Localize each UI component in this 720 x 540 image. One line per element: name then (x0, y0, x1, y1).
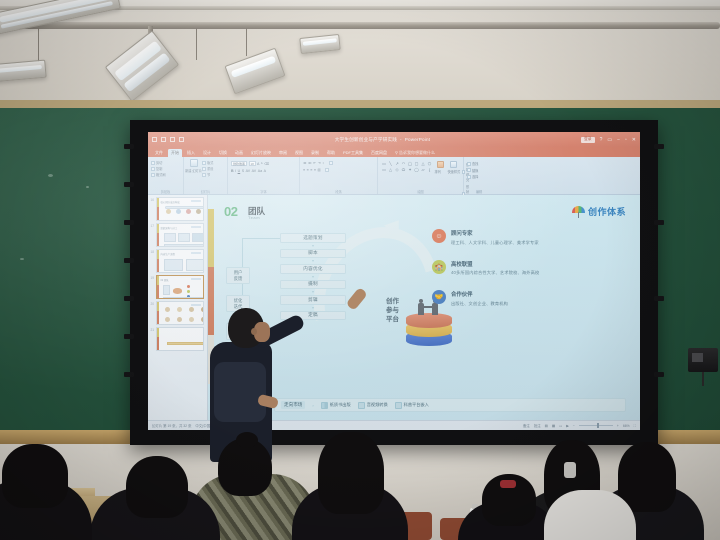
right-panel-list: ☺ 顾问专家 理工科、人文学科、儿童心理学、美术学专家 🏫 高校联盟 (432, 229, 628, 321)
help-icon[interactable]: ? (600, 137, 603, 143)
output-item-label: 纸质书出版 (330, 402, 351, 408)
output-channel-bar: 走向市场 › 纸质书出版 音视频转换 (274, 398, 626, 412)
minimize-icon[interactable]: − (617, 137, 620, 143)
copy-label: 复制 (156, 166, 162, 171)
output-item-video[interactable]: 音视频转换 (358, 402, 388, 409)
thumb-avatar (189, 317, 194, 322)
section-icon (202, 173, 206, 177)
thumb-block (186, 259, 205, 271)
font-color-icon[interactable]: A (264, 169, 266, 173)
new-slide-label: 新建 幻灯片 (185, 168, 202, 173)
screen-clip (654, 220, 664, 225)
find-icon (467, 162, 471, 166)
output-item-platform[interactable]: 科普平台嵌入 (395, 402, 429, 409)
section-number: 02 (224, 204, 237, 219)
slide-counter: 幻灯片 第 19 张，共 32 张 (152, 423, 191, 428)
title-bar: 大学生创新创业与产学研实践 - PowerPoint 登录 ? ▭ − ▫ ✕ (148, 132, 640, 147)
thumbnail-item[interactable]: 20 (148, 299, 207, 325)
thumb-avatar (165, 317, 170, 322)
clear-format-icon[interactable]: ⌫ (264, 162, 269, 166)
align-left-icon[interactable]: ≡ (303, 168, 305, 172)
strikethrough-icon[interactable]: S (242, 169, 244, 173)
format-painter-button[interactable]: 格式刷 (151, 172, 166, 177)
thumbnail-number: 16 (150, 197, 154, 221)
wall-control-panel[interactable] (688, 348, 718, 372)
thumb-avatar (166, 209, 171, 214)
thumbnail-number: 20 (150, 301, 154, 325)
umbrella-icon (572, 205, 585, 218)
video-icon (358, 402, 365, 409)
flow-node-2[interactable]: 脚本 (280, 249, 346, 259)
slideshow-icon[interactable]: ▶ (566, 424, 569, 428)
panel-cable (702, 372, 704, 386)
convert-smartart-button[interactable] (325, 168, 329, 172)
layout-icon (202, 161, 206, 165)
screen-clip (124, 144, 134, 149)
thumb-block (163, 297, 205, 299)
thumb-item-icon (187, 285, 190, 288)
platform-label: 创作参与平台 (386, 297, 399, 324)
lamp-wire (38, 28, 39, 64)
thumbnail-number: 18 (150, 249, 154, 273)
thumb-heading: 核心团队成员构成 (161, 200, 180, 204)
list-item-heading: 顾问专家 (451, 229, 539, 237)
thumb-avatar (165, 307, 170, 312)
reading-view-icon[interactable]: ▭ (559, 424, 562, 428)
thumb-avatar (177, 317, 182, 322)
cut-icon (151, 161, 155, 165)
screen-clip (654, 372, 664, 377)
screen-clip (124, 258, 134, 263)
section-label: 节 (207, 172, 210, 177)
student-hair (126, 456, 188, 518)
replace-button[interactable]: 替换 (467, 168, 491, 173)
clipboard-row: 剪切 复制 格式刷 (151, 159, 180, 177)
ribbon-group-slides: 新建 幻灯片 版式 重设 节 幻灯片 (184, 157, 228, 194)
output-bar-separator: › (312, 403, 313, 408)
classroom-scene: 大学生创新创业与产学研实践 - PowerPoint 登录 ? ▭ − ▫ ✕ (0, 0, 720, 540)
columns-icon[interactable]: ▥ (317, 168, 320, 172)
lamp-tube (303, 38, 337, 45)
thumb-avatar (196, 209, 201, 214)
tab-baidu-netdisk[interactable]: 百度网盘 (368, 149, 390, 158)
screen-clip (654, 296, 664, 301)
shape-rounded-icon[interactable]: ▢ (414, 161, 420, 166)
tab-review[interactable]: 审阅 (276, 149, 290, 158)
slides-row: 新建 幻灯片 版式 重设 节 (187, 159, 224, 177)
lamp-wire (196, 28, 197, 60)
ribbon-group-clipboard: 剪切 复制 格式刷 剪贴板 (148, 157, 184, 194)
group-label-font: 字体 (228, 189, 299, 194)
tab-insert[interactable]: 插入 (184, 149, 198, 158)
flow-node-4[interactable]: 摄制 (280, 280, 346, 290)
reset-button[interactable]: 重设 (202, 166, 213, 171)
list-item[interactable]: ☺ 顾问专家 理工科、人文学科、儿童心理学、美术学专家 (432, 229, 628, 246)
thumbnail-card[interactable]: 02 团队 (156, 275, 205, 299)
thumbnail-item[interactable]: 17 组织架构与分工 (148, 221, 207, 247)
tab-help[interactable]: 帮助 (324, 149, 338, 158)
shape-cyl-icon[interactable]: ⬭ (401, 167, 407, 172)
replace-icon (467, 168, 471, 172)
thumbnail-item[interactable]: 18 内容生产流程 (148, 247, 207, 273)
align-center-icon[interactable]: ≡ (307, 168, 309, 172)
char-spacing-icon[interactable]: AV (252, 169, 257, 173)
select-button[interactable]: 选择 (467, 174, 491, 179)
font-style-row: B I U S AV AV Aa A (231, 166, 296, 173)
bold-icon[interactable]: B (231, 169, 234, 173)
copy-button[interactable]: 复制 (151, 166, 166, 171)
tell-me-box[interactable]: ⚲ 告诉我你想要做什么 (392, 149, 438, 158)
increase-font-icon[interactable]: A (257, 162, 259, 166)
student-hair (2, 444, 68, 508)
output-item-print[interactable]: 纸质书出版 (321, 402, 351, 409)
tab-home[interactable]: 开始 (168, 149, 182, 158)
find-button[interactable]: 查找 (467, 161, 491, 166)
ribbon-group-font: 微软雅黑 18 A A ⌫ B I U S AV AV (228, 157, 300, 194)
thumb-avatar (186, 209, 191, 214)
flow-connector-top (242, 238, 280, 239)
handshake-icon: 🤝 (432, 290, 446, 304)
format-painter-label: 格式刷 (156, 172, 166, 177)
thumbnail-card[interactable]: 组织架构与分工 (156, 223, 205, 247)
student-hair (618, 442, 676, 512)
tab-design[interactable]: 设计 (200, 149, 214, 158)
group-label-drawing: 绘图 (378, 189, 463, 194)
tab-slideshow[interactable]: 幻灯片放映 (248, 149, 274, 158)
flow-arrow: ▾ (280, 259, 346, 263)
new-slide-button[interactable]: 新建 幻灯片 (187, 159, 200, 173)
product-name: PowerPoint (405, 137, 431, 142)
section-button[interactable]: 节 (202, 172, 213, 177)
comments-button[interactable]: 批注 (534, 423, 541, 428)
copy-icon (151, 167, 155, 171)
lamp-tube (0, 64, 42, 72)
section-subtitle: Team (248, 215, 260, 220)
shape-star-icon[interactable]: ✦ (407, 167, 413, 172)
close-icon[interactable]: ✕ (632, 137, 636, 143)
thumb-accent (157, 328, 159, 350)
thumb-platform (173, 288, 182, 294)
thumb-accent (157, 224, 159, 246)
thumb-badge (191, 226, 201, 228)
flow-arrow: ▾ (280, 275, 346, 279)
cut-label: 剪切 (156, 160, 162, 165)
sign-in-button[interactable]: 登录 (581, 137, 595, 143)
list-item-text: 高校联盟 40多所国内综合性大学、艺术院校、海外高校 (451, 260, 539, 277)
thumbnail-number: 21 (150, 327, 154, 351)
thumb-heading: 内容生产流程 (161, 252, 175, 256)
figure-body (418, 303, 424, 315)
presenter-ear (251, 328, 257, 335)
screen-clip (124, 220, 134, 225)
quick-styles-icon (450, 161, 457, 168)
platform-icon (395, 402, 402, 409)
group-label-clipboard: 剪贴板 (148, 189, 183, 194)
thumb-heading: 02 团队 (161, 278, 169, 282)
thumb-block (165, 206, 205, 209)
tab-pdf-tools[interactable]: PDF工具集 (340, 149, 366, 158)
arrange-icon (437, 161, 444, 168)
select-icon (467, 175, 471, 179)
layout-button[interactable]: 版式 (202, 160, 213, 165)
right-panel-title-text: 创作体系 (588, 205, 626, 218)
redo-icon[interactable] (170, 137, 175, 142)
layout-label: 版式 (207, 160, 213, 165)
tell-me-label: 告诉我你想要做什么 (399, 150, 435, 155)
select-label: 选择 (472, 174, 478, 179)
tab-animations[interactable]: 动画 (232, 149, 246, 158)
shape-rect2-icon[interactable]: ▭ (381, 167, 387, 172)
ribbon-tabs[interactable]: 文件 开始 插入 设计 切换 动画 幻灯片放映 审阅 视图 录制 帮助 PDF工… (148, 147, 640, 157)
thumb-accent (157, 276, 159, 298)
italic-icon[interactable]: I (235, 169, 236, 173)
restore-icon[interactable]: ▫ (625, 137, 627, 143)
student-hair-clip (564, 462, 576, 478)
window-title: 大学生创新创业与产学研实践 - PowerPoint (184, 137, 581, 143)
chalk-mark (86, 186, 89, 188)
zoom-thumb[interactable] (597, 423, 599, 428)
thumb-block (167, 342, 205, 345)
list-item-heading: 合作伙伴 (451, 290, 508, 298)
upper-wall (0, 0, 720, 100)
thumbnail-item-selected[interactable]: 19 02 团队 (148, 273, 207, 299)
quick-styles-button[interactable] (448, 161, 459, 168)
tab-view[interactable]: 视图 (292, 149, 306, 158)
list-item[interactable]: 🏫 高校联盟 40多所国内综合性大学、艺术院校、海外高校 (432, 260, 628, 277)
fit-slide-icon[interactable]: ⛶ (634, 424, 636, 428)
format-painter-icon (151, 173, 155, 177)
list-item-detail: 40多所国内综合性大学、艺术院校、海外高校 (451, 270, 539, 276)
group-label-editing: 编辑 (464, 189, 494, 194)
university-icon: 🏫 (432, 260, 446, 274)
ribbon[interactable]: 剪切 复制 格式刷 剪贴板 新建 幻灯片 (148, 157, 640, 195)
screen-clip (124, 372, 134, 377)
list-item-detail: 出版社、文创企业、教育机构 (451, 301, 508, 307)
screen-clip (124, 182, 134, 187)
underline-icon[interactable]: U (238, 169, 241, 173)
chalk-mark (20, 258, 24, 260)
change-case-icon[interactable]: Aa (258, 169, 262, 173)
thumb-badge (191, 200, 201, 202)
tab-file[interactable]: 文件 (152, 149, 166, 158)
flow-arrow: ▾ (280, 244, 346, 248)
advisor-icon: ☺ (432, 229, 446, 243)
thumb-avatar (176, 209, 181, 214)
thumb-block (178, 233, 190, 242)
thumb-accent (157, 302, 159, 324)
zoom-in-icon[interactable]: + (617, 424, 619, 428)
shape-callout-icon[interactable]: ▱ (420, 167, 426, 172)
ribbon-group-editing: 查找 替换 选择 编辑 (464, 157, 494, 194)
tab-record[interactable]: 录制 (308, 149, 322, 158)
undo-icon[interactable] (161, 137, 166, 142)
paragraph-row-2: ≡ ≡ ≡ ≡ ▥ (303, 165, 374, 172)
shape-brace-icon[interactable]: { (427, 167, 433, 172)
thumbnail-number: 17 (150, 223, 154, 247)
slide-thumbnail-pane[interactable]: 16 核心团队成员构成 17 (148, 195, 208, 420)
thumb-avatar (189, 307, 194, 312)
quick-styles-label: 快速样式 (448, 169, 461, 174)
decrease-font-icon[interactable]: A (261, 162, 263, 165)
shape-dia-icon[interactable]: ◇ (394, 167, 400, 172)
save-icon[interactable] (152, 137, 157, 142)
thumb-badge (191, 252, 201, 254)
student-hair (318, 432, 384, 514)
flow-node-1[interactable]: 选题策划 (280, 233, 346, 243)
zoom-out-icon[interactable]: − (573, 424, 575, 428)
thumbnail-card[interactable] (156, 301, 205, 325)
ribbon-display-icon[interactable]: ▭ (607, 137, 612, 143)
umbrella-handle (578, 212, 579, 218)
arrange-button[interactable] (435, 161, 446, 168)
group-label-slides: 幻灯片 (184, 189, 227, 194)
book-icon (321, 402, 328, 409)
replace-label: 替换 (472, 168, 478, 173)
group-label-paragraph: 段落 (300, 189, 377, 194)
shape-oval-icon[interactable]: ◯ (407, 161, 413, 166)
thumb-item-icon (187, 290, 190, 293)
reset-label: 重设 (207, 166, 213, 171)
student-hair-bun (236, 432, 258, 448)
thumb-heading: 组织架构与分工 (161, 226, 178, 230)
list-item-text: 顾问专家 理工科、人文学科、儿童心理学、美术学专家 (451, 229, 539, 246)
zoom-level[interactable]: 66% (623, 424, 630, 428)
thumbnail-item[interactable]: 16 核心团队成员构成 (148, 195, 207, 221)
shape-pent-icon[interactable]: ⬠ (427, 161, 433, 166)
shape-triangle-icon[interactable]: △ (420, 161, 426, 166)
shape-circ2-icon[interactable]: ◯ (414, 167, 420, 172)
shape-line-icon[interactable]: ╲ (388, 161, 394, 166)
accent-yellow (208, 209, 214, 268)
thumb-accent (157, 250, 159, 272)
ribbon-group-paragraph: ≔ ≕ ⇤ ⇥ ↕ ≡ ≡ ≡ ≡ ▥ (300, 157, 378, 194)
student-hair-tie (500, 480, 516, 488)
justify-icon[interactable]: ≡ (314, 168, 316, 172)
ribbon-group-drawing: ▭ ╲ ↗ ◠ ◯ ▢ △ ⬠ ▭ △ ◇ ⬭ (378, 157, 464, 194)
presenter-torso-shading (214, 362, 266, 422)
arrange-label: 排列 (435, 169, 446, 174)
list-item-heading: 高校联盟 (451, 260, 539, 268)
list-item-detail: 理工科、人文学科、儿童心理学、美术学专家 (451, 240, 539, 246)
screen-clip (124, 334, 134, 339)
new-slide-icon (190, 159, 198, 167)
side-node-feedback[interactable]: 用户反馈 (226, 267, 250, 284)
list-item[interactable]: 🤝 合作伙伴 出版社、文创企业、教育机构 (432, 290, 628, 307)
thumb-badge (191, 278, 201, 280)
thumbnail-item[interactable]: 21 (148, 325, 207, 351)
panel-screen (692, 353, 703, 362)
thumb-avatar (177, 307, 182, 312)
right-panel-title: 创作体系 (572, 205, 626, 218)
thumb-block (163, 285, 170, 295)
thumb-block (164, 233, 176, 242)
cut-button[interactable]: 剪切 (151, 160, 166, 165)
zoom-slider[interactable] (579, 425, 613, 426)
thumbnail-card[interactable]: 核心团队成员构成 (156, 197, 205, 221)
output-item-label: 音视频转换 (367, 402, 388, 408)
thumb-accent (157, 198, 159, 220)
flow-node-3[interactable]: 内容优化 (280, 264, 346, 274)
thumb-block (164, 244, 205, 247)
chalk-mark (48, 174, 53, 177)
find-label: 查找 (472, 161, 478, 166)
thumb-block (164, 259, 183, 271)
sorter-view-icon[interactable]: ▦ (552, 424, 555, 428)
shadow-icon[interactable]: AV (246, 169, 251, 173)
thumbnail-card[interactable] (156, 327, 205, 351)
screen-clip (654, 144, 664, 149)
normal-view-icon[interactable]: ▤ (545, 424, 548, 428)
shape-curve-icon[interactable]: ◠ (401, 161, 407, 166)
tab-transitions[interactable]: 切换 (216, 149, 230, 158)
thumbnail-card[interactable]: 内容生产流程 (156, 249, 205, 273)
flow-arrow: ▾ (280, 290, 346, 294)
notes-button[interactable]: 备注 (523, 423, 530, 428)
screen-clip (124, 296, 134, 301)
shape-rect-icon[interactable]: ▭ (381, 161, 387, 166)
lamp-wire (246, 28, 247, 56)
output-item-label: 科普平台嵌入 (404, 402, 429, 408)
shape-arrow-icon[interactable]: ↗ (394, 161, 400, 166)
document-title: 大学生创新创业与产学研实践 (335, 137, 397, 142)
list-item-text: 合作伙伴 出版社、文创企业、教育机构 (451, 290, 508, 307)
align-right-icon[interactable]: ≡ (310, 168, 312, 172)
shape-tri2-icon[interactable]: △ (388, 167, 394, 172)
convert-smartart-icon (325, 168, 329, 172)
reset-icon (202, 167, 206, 171)
quick-access-toolbar[interactable] (152, 137, 184, 142)
thumb-block (192, 233, 205, 242)
ceiling-pipe (0, 22, 720, 29)
thumbnail-number: 19 (150, 275, 154, 299)
window-controls[interactable]: 登录 ? ▭ − ▫ ✕ (581, 137, 636, 143)
font-name-row: 微软雅黑 18 A A ⌫ (231, 159, 296, 166)
